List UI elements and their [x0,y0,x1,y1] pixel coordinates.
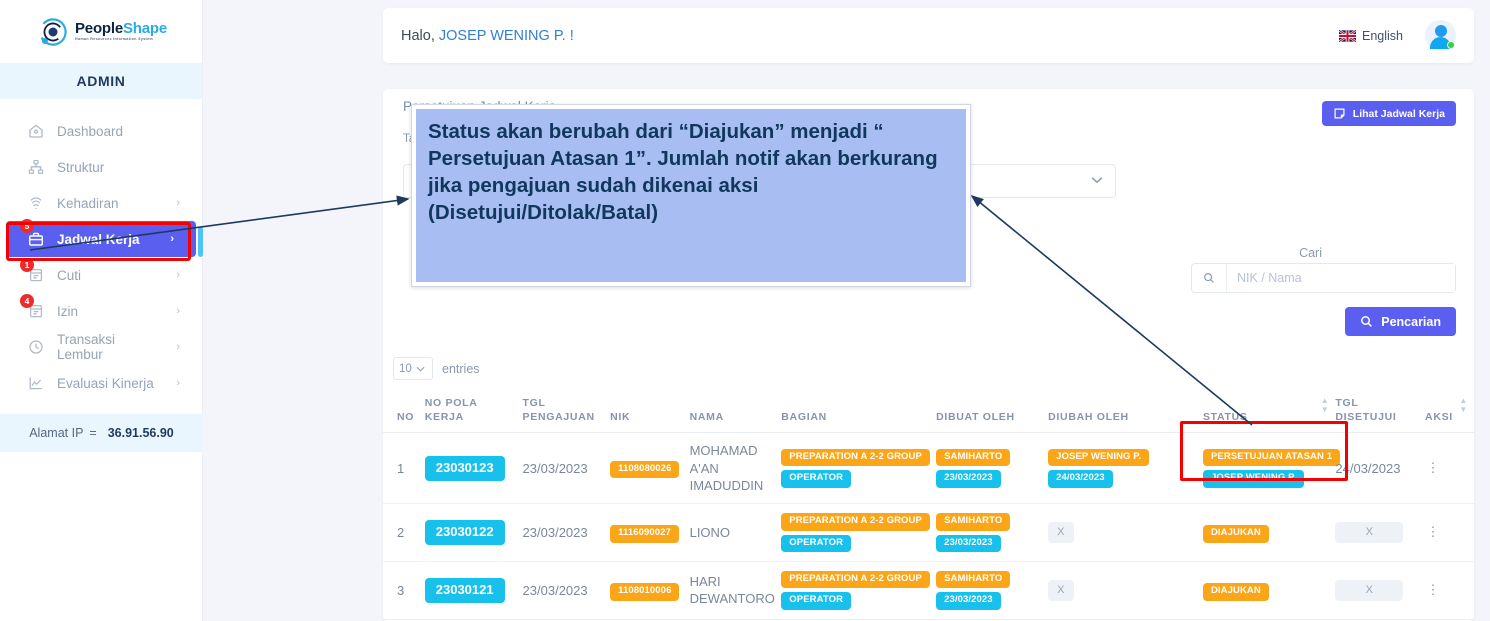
sidebar-item-jadwal-kerja[interactable]: 5 Jadwal Kerja › [6,221,196,257]
pola-kerja-pill: 23030122 [425,520,505,545]
search-field-group [1191,263,1456,293]
view-schedule-button[interactable]: Lihat Jadwal Kerja [1322,101,1456,126]
greeting-prefix: Halo, [401,28,435,44]
col-header-bagian[interactable]: BAGIAN [781,384,936,433]
brand-name-part1: People [75,20,123,37]
tgl-disetujui-empty-pill: X [1335,522,1403,543]
nik-pill: 1108010006 [610,583,679,600]
entries-value: 10 [399,363,412,375]
cell-tgl-pengajuan: 23/03/2023 [523,433,611,504]
cell-no-pola-kerja: 23030123 [425,433,523,504]
cell-no-pola-kerja: 23030122 [425,504,523,562]
diubah-oleh-empty-pill: X [1048,522,1073,543]
search-icon [1360,315,1373,328]
cell-dibuat-oleh: SAMIHARTO 23/03/2023 [936,433,1048,504]
sidebar-item-label: Jadwal Kerja [57,232,157,247]
entries-control: 10 entries [393,357,480,380]
view-schedule-label: Lihat Jadwal Kerja [1353,108,1445,120]
clock-icon [28,339,44,355]
cell-aksi: ⋮ [1425,562,1474,620]
cell-status: PERSETUJUAN ATASAN 1 JOSEP WENING P. [1203,433,1335,504]
bagian-role-pill: OPERATOR [781,535,851,552]
col-header-aksi[interactable]: ▲▼ AKSI [1425,384,1474,433]
brand-logo[interactable]: PeopleShape Human Resources Information … [0,0,202,63]
cell-tgl-pengajuan: 23/03/2023 [523,504,611,562]
cell-diubah-oleh: X [1048,562,1203,620]
greeting-username: JOSEP WENING P. ! [439,28,574,44]
search-button-label: Pencarian [1381,315,1441,329]
bagian-group-pill: PREPARATION A 2-2 GROUP [781,513,930,530]
sort-icon[interactable]: ▲▼ [1459,397,1468,415]
sidebar-nav: Dashboard Struktur [0,99,202,401]
chevron-right-icon: › [176,305,180,317]
kebab-menu-icon[interactable]: ⋮ [1425,463,1441,473]
table-row[interactable]: 1 23030123 23/03/2023 1108080026 MOHAMAD… [383,433,1474,504]
sidebar-item-evaluasi-kinerja[interactable]: Evaluasi Kinerja › [0,365,202,401]
status-badge: DIAJUKAN [1203,583,1269,600]
pola-kerja-pill: 23030123 [425,456,505,481]
status-actor-pill: JOSEP WENING P. [1203,470,1304,487]
bagian-group-pill: PREPARATION A 2-2 GROUP [781,449,930,466]
dibuat-oleh-name-pill: SAMIHARTO [936,449,1010,466]
ip-equals: = [89,426,96,440]
col-header-dibuat-oleh[interactable]: DIBUAT OLEH [936,384,1048,433]
dibuat-oleh-date-pill: 23/03/2023 [936,470,1001,487]
sidebar-item-label: Kehadiran [57,196,163,211]
table-row[interactable]: 2 23030122 23/03/2023 1116090027 LIONO P… [383,504,1474,562]
approvals-table: NO NO POLA KERJA TGL PENGAJUAN NIK NAMA … [383,384,1474,621]
bagian-group-pill: PREPARATION A 2-2 GROUP [781,571,930,588]
dibuat-oleh-name-pill: SAMIHARTO [936,571,1010,588]
sidebar-scroll-indicator[interactable] [198,227,203,257]
cell-dibuat-oleh: SAMIHARTO 23/03/2023 [936,504,1048,562]
cell-tgl-disetujui: X [1335,562,1425,620]
annotation-text: Status akan berubah dari “Diajukan” menj… [416,109,966,282]
cell-nama: LIONO [690,504,782,562]
col-header-nik[interactable]: NIK [610,384,689,433]
search-input[interactable] [1227,264,1455,292]
sidebar-item-label: Transaksi Lembur [57,332,163,362]
cell-no: 2 [383,504,425,562]
col-header-status[interactable]: ▲▼ STATUS [1203,384,1335,433]
col-header-tgl-disetujui[interactable]: TGL DISETUJUI [1335,384,1425,433]
user-avatar-icon[interactable] [1425,20,1456,51]
search-label: Cari [1299,246,1322,260]
col-header-no-pola-kerja[interactable]: NO POLA KERJA [425,384,523,433]
cell-dibuat-oleh: SAMIHARTO 23/03/2023 [936,562,1048,620]
chevron-right-icon: › [170,233,174,245]
cell-no: 1 [383,433,425,504]
chevron-right-icon: › [176,341,180,353]
chevron-right-icon: › [176,377,180,389]
table-row[interactable]: 3 23030121 23/03/2023 1108010006 HARI DE… [383,562,1474,620]
sidebar-badge-count: 5 [20,219,34,233]
sidebar-item-label: Dashboard [57,124,167,139]
sidebar-item-transaksi-lembur[interactable]: Transaksi Lembur › [0,329,202,365]
entries-label: entries [442,362,480,376]
status-badge: PERSETUJUAN ATASAN 1 [1203,449,1340,466]
sidebar-item-struktur[interactable]: Struktur [0,149,202,185]
col-header-tgl-pengajuan[interactable]: TGL PENGAJUAN [523,384,611,433]
chevron-down-icon [1091,175,1103,187]
chart-line-icon [28,375,44,391]
sidebar-item-cuti[interactable]: 1 Cuti › [0,257,202,293]
sidebar-item-label: Evaluasi Kinerja [57,376,163,391]
status-badge: DIAJUKAN [1203,525,1269,542]
search-icon [1192,264,1227,292]
dibuat-oleh-date-pill: 23/03/2023 [936,592,1001,609]
ip-address-bar: Alamat IP = 36.91.56.90 [0,414,203,452]
cell-diubah-oleh: X [1048,504,1203,562]
home-icon [28,123,44,139]
sitemap-icon [28,159,44,175]
cell-tgl-disetujui: 24/03/2023 [1335,433,1425,504]
avatar-head [1435,25,1447,37]
chevron-right-icon: › [176,197,180,209]
dibuat-oleh-name-pill: SAMIHARTO [936,513,1010,530]
col-header-status-label: STATUS [1203,411,1248,423]
cell-status: DIAJUKAN [1203,562,1335,620]
bagian-role-pill: OPERATOR [781,592,851,609]
cell-tgl-disetujui: X [1335,504,1425,562]
fingerprint-icon [28,195,44,211]
col-header-diubah-oleh[interactable]: DIUBAH OLEH [1048,384,1203,433]
greeting-text: Halo, JOSEP WENING P. ! [401,28,574,44]
sidebar-item-label: Izin [57,304,163,319]
diubah-oleh-name-pill: JOSEP WENING P. [1048,449,1149,466]
sidebar: PeopleShape Human Resources Information … [0,0,203,621]
kebab-menu-icon[interactable]: ⋮ [1425,585,1441,595]
sidebar-badge-count: 4 [20,294,34,308]
top-header-bar: Halo, JOSEP WENING P. ! English [383,8,1474,63]
cell-status: DIAJUKAN [1203,504,1335,562]
sidebar-item-dashboard[interactable]: Dashboard [0,113,202,149]
table-body: 1 23030123 23/03/2023 1108080026 MOHAMAD… [383,433,1474,621]
brand-tagline: Human Resources Information System [75,38,167,42]
kebab-menu-icon[interactable]: ⋮ [1425,527,1441,537]
bagian-role-pill: OPERATOR [781,470,851,487]
brand-name-part2: Shape [123,20,167,37]
cell-no: 3 [383,562,425,620]
cell-no-pola-kerja: 23030121 [425,562,523,620]
language-switcher[interactable]: English [1339,29,1403,43]
role-label: ADMIN [0,63,202,99]
chevron-right-icon: › [176,269,180,281]
search-button[interactable]: Pencarian [1345,307,1456,336]
sidebar-item-kehadiran[interactable]: Kehadiran › [0,185,202,221]
table-scroll-container[interactable]: NO NO POLA KERJA TGL PENGAJUAN NIK NAMA … [383,384,1474,621]
nik-pill: 1116090027 [610,525,679,542]
cell-nama: HARI DEWANTORO [690,562,782,620]
cell-bagian: PREPARATION A 2-2 GROUP OPERATOR [781,433,936,504]
cell-nik: 1108080026 [610,433,689,504]
cell-nik: 1116090027 [610,504,689,562]
table-header: NO NO POLA KERJA TGL PENGAJUAN NIK NAMA … [383,384,1474,433]
cell-tgl-pengajuan: 23/03/2023 [523,562,611,620]
entries-per-page-select[interactable]: 10 [393,357,433,380]
col-header-nama[interactable]: NAMA [690,384,782,433]
pola-kerja-pill: 23030121 [425,578,505,603]
cell-bagian: PREPARATION A 2-2 GROUP OPERATOR [781,504,936,562]
diubah-oleh-empty-pill: X [1048,580,1073,601]
cell-diubah-oleh: JOSEP WENING P. 24/03/2023 [1048,433,1203,504]
peopleshape-logo-icon [35,14,71,50]
nik-pill: 1108080026 [610,461,679,478]
ip-value: 36.91.56.90 [108,426,174,440]
col-header-no[interactable]: NO [383,384,425,433]
sort-icon[interactable]: ▲▼ [1321,397,1330,415]
dibuat-oleh-date-pill: 23/03/2023 [936,535,1001,552]
sidebar-item-izin[interactable]: 4 Izin › [0,293,202,329]
cell-nama: MOHAMAD A'AN IMADUDDIN [690,433,782,504]
sidebar-item-label: Struktur [57,160,167,175]
cell-aksi: ⋮ [1425,433,1474,504]
diubah-oleh-date-pill: 24/03/2023 [1048,470,1113,487]
briefcase-icon [28,231,44,247]
online-status-dot [1447,41,1455,49]
cell-aksi: ⋮ [1425,504,1474,562]
cell-nik: 1108010006 [610,562,689,620]
sidebar-badge-count: 1 [20,258,34,272]
col-header-aksi-label: AKSI [1425,411,1453,423]
tgl-disetujui-empty-pill: X [1335,580,1403,601]
sidebar-item-label: Cuti [57,268,163,283]
ip-label: Alamat IP [29,426,83,440]
language-label: English [1362,29,1403,43]
cell-bagian: PREPARATION A 2-2 GROUP OPERATOR [781,562,936,620]
chevron-down-icon [416,364,425,374]
annotation-callout: Status akan berubah dari “Diajukan” menj… [411,104,971,287]
note-icon [1333,107,1346,120]
uk-flag-icon [1339,30,1356,42]
